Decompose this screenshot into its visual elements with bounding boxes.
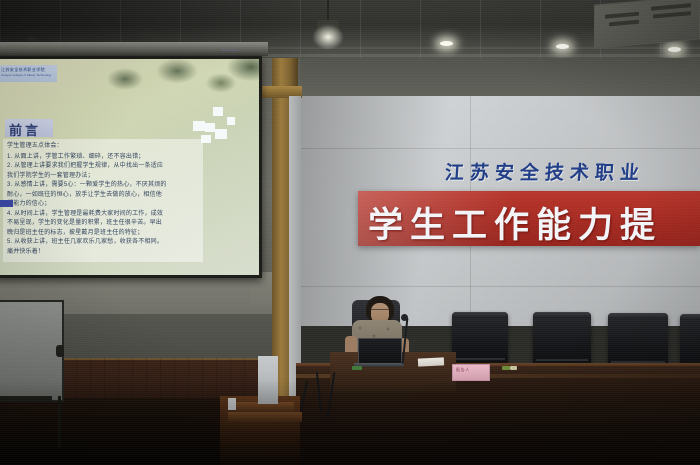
presentation-slide: 江苏安全技术职业学院 Jiangsu College of Safety Tec… [0,59,259,275]
pillar-inner-column [289,96,301,396]
chair-seam [455,358,505,360]
screen-artifact-block [193,121,205,131]
projection-screen: 江苏安全技术职业学院 Jiangsu College of Safety Tec… [0,56,262,278]
downlight-on-icon [440,41,453,46]
screen-artifact-block [205,123,215,132]
conference-chair [680,314,700,370]
desk-object-green [352,366,362,370]
chair-headrest [533,312,591,318]
slide-title: 前言 [9,120,41,139]
slide-line: 2. 从管理上讲要求我们把握学生规律，从中找出一条适应 [7,162,199,170]
ac-vent-slat [609,20,639,27]
laptop-screen [358,338,402,366]
chair-headrest [452,312,508,318]
ac-vent-slat [605,12,639,19]
stage-step [228,412,302,422]
chair-headrest [680,314,700,320]
lecture-hall-photo: ◄ Remote 江苏安全技术职业学院 Jiangsu College of S… [0,0,700,465]
slide-line: 3. 从感情上讲，需要5心：一颗爱学生的热心，不厌其烦的 [7,181,199,189]
slide-line: 学生管理五点体会： [7,142,199,150]
floor-outlet-box [228,398,236,410]
whiteboard-clamp [56,345,64,357]
ac-vent-slat [651,3,691,10]
speaker-glasses [371,309,389,314]
wall-corner-strip [258,356,278,404]
slide-logo-line1: 江苏安全技术职业学院 [1,67,45,73]
conference-chair [452,312,508,366]
desk-object-cream [510,366,517,370]
screen-artifact-block [213,107,223,116]
slide-line: 4. 从时间上讲，学生管理是最耗费大家时间的工作，成效 [7,210,199,218]
slide-line: 晚归是班主任的标志，披星戴月是班主任的特征； [7,229,199,237]
ac-vent-slat [653,11,691,18]
conference-chair [533,312,591,367]
slide-selection-marker [0,200,13,207]
screen-artifact-block [201,135,211,143]
banner-title-text: 学生工作能力提 [368,197,662,248]
roller-brand-label: ◄ Remote [222,48,239,52]
screen-artifact-block [215,129,227,139]
chair-headrest [608,313,668,319]
slide-body-text: 学生管理五点体会： 1. 从面上讲，学管工作繁琐、细碎，还不容出错； 2. 从管… [3,139,203,262]
downlight-on-icon [556,44,569,49]
conference-chair [608,313,668,369]
downlight-on-icon [668,47,681,52]
slide-line: 们能力的信心； [7,200,199,208]
chair-seam [536,359,588,361]
slide-logo-line2: Jiangsu College of Safety Technology [1,74,51,77]
microphone-head-icon [401,314,408,321]
wall-institution-name: 江苏安全技术职业 [444,158,646,185]
whiteboard-easel [0,300,64,402]
slide-line: 不易呈现，学生的变化是量的积累，班主任很辛苦。早出 [7,219,199,227]
slide-line: 5. 从收获上讲，班主任几家欢乐几家愁，收获各不相同。 [7,238,199,246]
desk-object-green [502,366,510,370]
slide-line: 1. 从面上讲，学管工作繁琐、细碎，还不容出错； [7,153,199,161]
screen-artifact-block [227,117,235,125]
whiteboard-tray [0,396,52,402]
slide-line: 耐心，一如既往的恒心，放手让学生去做的放心，相信他 [7,191,199,199]
name-placard-text: 报告人 [456,367,470,373]
slide-line: 痛并快乐着！ [7,248,199,256]
whiteboard-leg [58,396,61,448]
paper-documents [418,357,444,366]
slide-line: 我们学院学生的一套管理办法； [7,172,199,180]
